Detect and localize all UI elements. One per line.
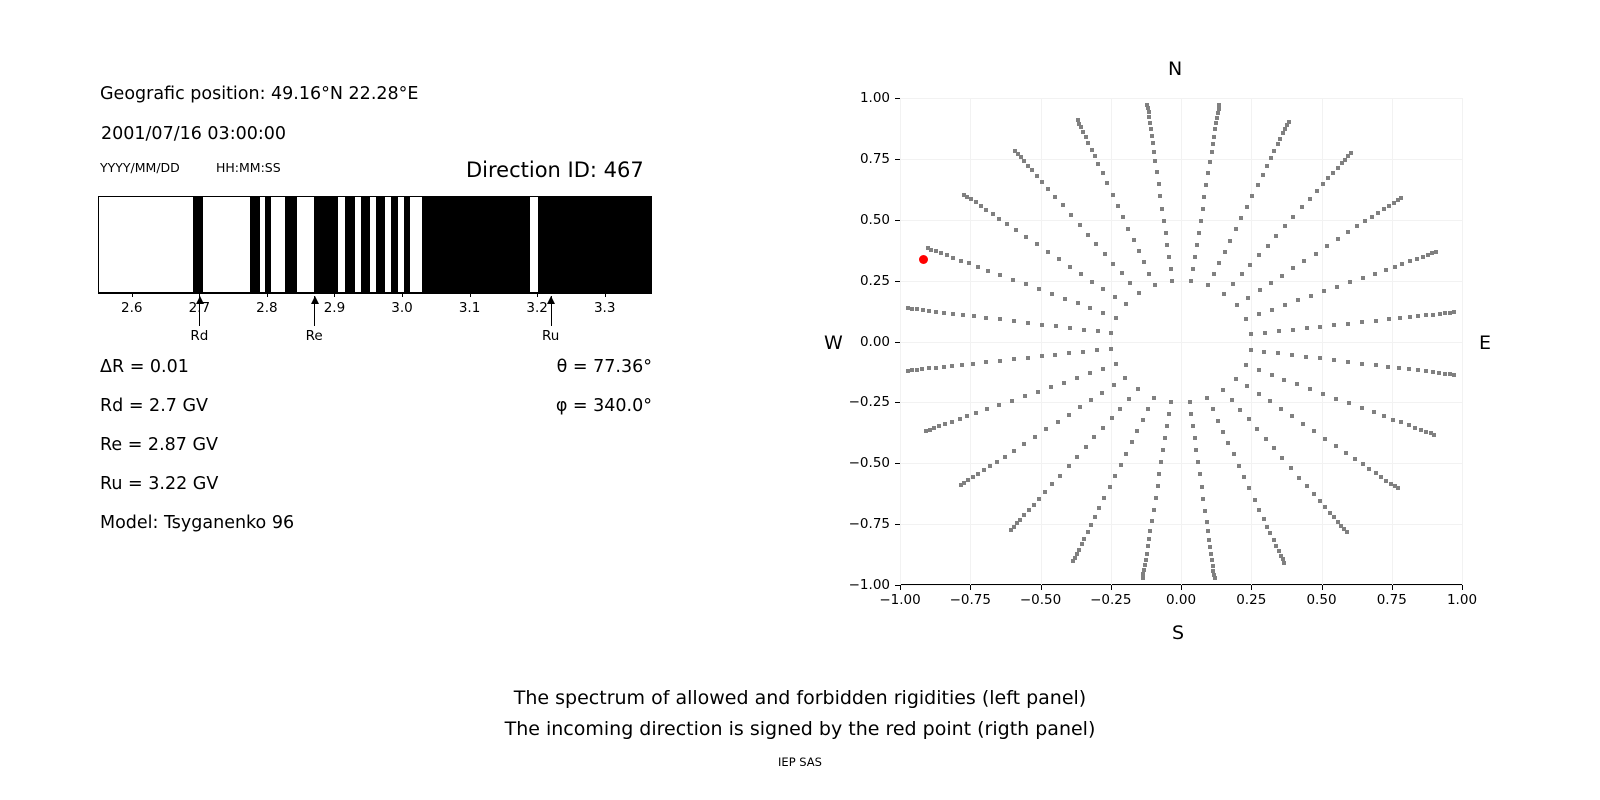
direction-point [1432, 433, 1436, 437]
direction-point [1061, 203, 1065, 207]
direction-point [995, 460, 999, 464]
direction-point [1081, 130, 1085, 134]
direction-point [1301, 422, 1305, 426]
direction-point [1304, 355, 1308, 359]
direction-id-text: Direction ID: 467 [466, 158, 644, 182]
direction-point [1399, 196, 1403, 200]
forbidden-band [376, 196, 385, 293]
direction-point [1257, 508, 1261, 512]
direction-point [1334, 397, 1338, 401]
direction-point [1272, 149, 1276, 153]
direction-point [1226, 441, 1230, 445]
rigidity-tick [132, 293, 133, 297]
direction-point [1281, 131, 1285, 135]
direction-point [1268, 531, 1272, 535]
direction-point [1150, 519, 1154, 523]
direction-point [1397, 366, 1401, 370]
x-tick [1462, 585, 1463, 590]
direction-point [1419, 428, 1423, 432]
direction-point [1205, 396, 1209, 400]
direction-point [1244, 363, 1248, 367]
direction-point [1318, 499, 1322, 503]
direction-point [1408, 315, 1412, 319]
direction-point [1277, 549, 1281, 553]
direction-point [1157, 182, 1161, 186]
param-theta: θ = 77.36° [460, 357, 652, 377]
direction-point [1086, 141, 1090, 145]
direction-point [1346, 230, 1350, 234]
param-delta-r: ΔR = 0.01 [100, 357, 189, 377]
direction-point [1137, 249, 1141, 253]
direction-point [1305, 326, 1309, 330]
direction-point [976, 265, 980, 269]
direction-point [1153, 283, 1157, 287]
direction-point [950, 364, 954, 368]
x-tick [1181, 585, 1182, 590]
direction-point [1189, 279, 1193, 283]
direction-point [1118, 407, 1122, 411]
direction-point [1033, 435, 1037, 439]
direction-point [1022, 513, 1026, 517]
direction-point [1067, 464, 1071, 468]
direction-point [1094, 242, 1098, 246]
direction-point [1009, 528, 1013, 532]
direction-point [1318, 356, 1322, 360]
direction-point [1374, 471, 1378, 475]
direction-point [1096, 329, 1100, 333]
direction-point [1151, 141, 1155, 145]
direction-point [1355, 224, 1359, 228]
direction-point [1374, 363, 1378, 367]
x-tick [1392, 585, 1393, 590]
direction-point [1223, 250, 1227, 254]
direction-point [1363, 219, 1367, 223]
direction-point [1207, 538, 1211, 542]
direction-point [1012, 319, 1016, 323]
direction-point [1332, 358, 1336, 362]
gridline-horizontal [900, 402, 1462, 403]
direction-point [1124, 452, 1128, 456]
direction-point [1067, 351, 1071, 355]
direction-point [1424, 313, 1428, 317]
direction-point [1263, 331, 1267, 335]
direction-point [1109, 331, 1113, 335]
direction-point [1213, 127, 1217, 131]
direction-point [1344, 451, 1348, 455]
rigidity-axis-line [98, 293, 652, 294]
direction-point [937, 424, 941, 428]
rigidity-tick [402, 293, 403, 297]
direction-point [934, 366, 938, 370]
direction-point [1244, 317, 1248, 321]
y-tick-label: −1.00 [834, 577, 890, 593]
direction-point [1346, 322, 1350, 326]
gridline-vertical [1462, 98, 1463, 585]
direction-point [1095, 348, 1099, 352]
direction-point [1189, 412, 1193, 416]
direction-point [1076, 301, 1080, 305]
direction-point [1309, 294, 1313, 298]
direction-point [1003, 455, 1007, 459]
marker-arrow-re [314, 296, 315, 326]
direction-point [1287, 120, 1291, 124]
direction-point [976, 472, 980, 476]
direction-point [1291, 328, 1295, 332]
direction-point [971, 475, 975, 479]
direction-point [1093, 154, 1097, 158]
gridline-horizontal [900, 281, 1462, 282]
direction-point [1116, 204, 1120, 208]
y-tick [895, 463, 900, 464]
direction-point [1205, 520, 1209, 524]
direction-point [1282, 378, 1286, 382]
direction-point [1325, 244, 1329, 248]
direction-point [1075, 376, 1079, 380]
direction-point [1208, 160, 1212, 164]
direction-point [1272, 538, 1276, 542]
direction-point [1387, 204, 1391, 208]
direction-point [1265, 164, 1269, 168]
direction-point [997, 217, 1001, 221]
direction-point [915, 368, 919, 372]
direction-point [1249, 348, 1253, 352]
direction-point [1242, 475, 1246, 479]
forbidden-band [345, 196, 355, 293]
direction-point [1296, 298, 1300, 302]
direction-point [1188, 400, 1192, 404]
direction-point [1088, 371, 1092, 375]
direction-point [1270, 373, 1274, 377]
gridline-horizontal [900, 220, 1462, 221]
direction-point [1237, 464, 1241, 468]
direction-point [1165, 424, 1169, 428]
direction-point [1169, 400, 1173, 404]
direction-point [1113, 295, 1117, 299]
param-rd: Rd = 2.7 GV [100, 396, 208, 416]
rigidity-tick-label: 2.6 [121, 300, 142, 316]
forbidden-band [265, 196, 271, 293]
direction-point [1111, 193, 1115, 197]
direction-point [1130, 440, 1134, 444]
direction-point [1305, 484, 1309, 488]
direction-point [1211, 142, 1215, 146]
direction-point [1257, 253, 1261, 257]
direction-point [1302, 259, 1306, 263]
direction-point [1030, 168, 1034, 172]
direction-point [1128, 281, 1132, 285]
direction-point [920, 367, 924, 371]
forbidden-band [404, 196, 410, 293]
direction-point [1265, 525, 1269, 529]
y-tick-label: −0.75 [834, 516, 890, 532]
direction-point [1290, 353, 1294, 357]
direction-point [951, 312, 955, 316]
direction-point [1137, 291, 1141, 295]
forbidden-band [422, 196, 530, 293]
direction-point [984, 208, 988, 212]
direction-point [984, 360, 988, 364]
direction-point [1054, 324, 1058, 328]
direction-map-panel: −1.00−0.75−0.50−0.250.000.250.500.751.00… [900, 98, 1462, 585]
direction-point [1010, 399, 1014, 403]
gridline-horizontal [900, 342, 1462, 343]
direction-point [1437, 371, 1441, 375]
direction-point [1040, 180, 1044, 184]
x-tick-label: 0.75 [1377, 592, 1407, 608]
direction-point [1193, 255, 1197, 259]
direction-point [915, 307, 919, 311]
geographic-position-text: Geografic position: 49.16°N 22.28°E [100, 84, 418, 104]
direction-point [1361, 462, 1365, 466]
direction-point [1269, 281, 1273, 285]
x-tick-label: 0.25 [1236, 592, 1266, 608]
direction-point [1426, 253, 1430, 257]
direction-point [1032, 503, 1036, 507]
direction-point [1384, 479, 1388, 483]
direction-point [1141, 418, 1145, 422]
direction-point [1276, 351, 1280, 355]
footer-attribution: IEP SAS [0, 755, 1600, 769]
direction-point [1082, 328, 1086, 332]
direction-point [1077, 548, 1081, 552]
direction-point [960, 363, 964, 367]
direction-point [1161, 448, 1165, 452]
gridline-horizontal [900, 524, 1462, 525]
direction-point [1217, 261, 1221, 265]
y-tick [895, 402, 900, 403]
direction-point [1156, 484, 1160, 488]
direction-point [1111, 262, 1115, 266]
direction-point [1280, 456, 1284, 460]
y-tick-label: −0.50 [834, 455, 890, 471]
rigidity-tick-label: 2.8 [256, 300, 277, 316]
direction-point [1321, 392, 1325, 396]
direction-point [1349, 151, 1353, 155]
direction-point [1376, 211, 1380, 215]
direction-point [1037, 497, 1041, 501]
direction-point [1152, 150, 1156, 154]
direction-point [1222, 292, 1226, 296]
direction-point [1191, 267, 1195, 271]
direction-point [1398, 316, 1402, 320]
x-tick [1251, 585, 1252, 590]
direction-point [1230, 398, 1234, 402]
direction-point [1370, 215, 1374, 219]
direction-point [1336, 166, 1340, 170]
time-format-hint: HH:MM:SS [216, 160, 281, 175]
direction-point [1248, 263, 1252, 267]
direction-point [1239, 216, 1243, 220]
direction-point [1078, 405, 1082, 409]
direction-point [943, 422, 947, 426]
marker-arrow-ru [551, 296, 552, 326]
rigidity-band-bar [98, 196, 652, 293]
gridline-horizontal [900, 463, 1462, 464]
direction-point [1336, 237, 1340, 241]
direction-point [1147, 272, 1151, 276]
direction-point [1247, 486, 1251, 490]
direction-point [1408, 259, 1412, 263]
direction-point [1078, 223, 1082, 227]
direction-point [1005, 222, 1009, 226]
direction-point [1035, 174, 1039, 178]
direction-point [1046, 187, 1050, 191]
direction-point [1262, 517, 1266, 521]
direction-point [1297, 476, 1301, 480]
forbidden-band [314, 196, 338, 293]
direction-point [1262, 350, 1266, 354]
direction-point [1112, 383, 1116, 387]
direction-point [1123, 376, 1127, 380]
direction-point [1101, 171, 1105, 175]
direction-point [1068, 326, 1072, 330]
forbidden-band [285, 196, 297, 293]
direction-point [997, 403, 1001, 407]
direction-point [1387, 317, 1391, 321]
direction-point [1114, 362, 1118, 366]
direction-point [1452, 373, 1456, 377]
direction-point [1200, 485, 1204, 489]
direction-point [1360, 320, 1364, 324]
gridline-horizontal [900, 159, 1462, 160]
direction-point [1080, 542, 1084, 546]
direction-point [1146, 407, 1150, 411]
direction-point [958, 417, 962, 421]
x-tick-label: 0.00 [1166, 592, 1196, 608]
direction-point [1109, 347, 1113, 351]
direction-point [1050, 292, 1054, 296]
direction-point [998, 359, 1002, 363]
direction-point [1257, 368, 1261, 372]
direction-point [1198, 472, 1202, 476]
direction-point [1076, 118, 1080, 122]
direction-point [991, 212, 995, 216]
date-format-hint: YYYY/MM/DD [100, 160, 180, 175]
direction-point [1132, 238, 1136, 242]
x-tick [1041, 585, 1042, 590]
direction-point [1067, 413, 1071, 417]
direction-point [1149, 127, 1153, 131]
param-re: Re = 2.87 GV [100, 435, 218, 455]
y-tick-label: 0.25 [834, 273, 890, 289]
x-tick [1111, 585, 1112, 590]
direction-point [1022, 159, 1026, 163]
direction-point [998, 273, 1002, 277]
direction-point [1127, 397, 1131, 401]
direction-point [1274, 234, 1278, 238]
forbidden-band [391, 196, 398, 293]
direction-point [1163, 436, 1167, 440]
x-tick-label: −1.00 [879, 592, 920, 608]
direction-point [1335, 285, 1339, 289]
direction-point [984, 316, 988, 320]
direction-point [1211, 564, 1215, 568]
direction-point [1147, 537, 1151, 541]
direction-point [1148, 529, 1152, 533]
param-phi: φ = 340.0° [460, 396, 652, 416]
direction-point [1079, 272, 1083, 276]
direction-point [1086, 530, 1090, 534]
direction-point [1101, 367, 1105, 371]
direction-point [1026, 164, 1030, 168]
direction-point [1373, 272, 1377, 276]
direction-point [1092, 435, 1096, 439]
direction-point [1012, 449, 1016, 453]
direction-point [1157, 472, 1161, 476]
direction-point [951, 256, 955, 260]
rigidity-tick-label: 3.0 [391, 300, 412, 316]
direction-point [910, 368, 914, 372]
param-model: Model: Tsyganenko 96 [100, 513, 294, 533]
direction-point [1199, 219, 1203, 223]
direction-point [1014, 228, 1018, 232]
direction-point [1026, 321, 1030, 325]
direction-point [1326, 176, 1330, 180]
direction-point [1215, 116, 1219, 120]
direction-point [1119, 463, 1123, 467]
figure-canvas: Geografic position: 49.16°N 22.28°E 2001… [0, 0, 1600, 800]
direction-point [1101, 311, 1105, 315]
direction-point [1246, 296, 1250, 300]
direction-point [1283, 127, 1287, 131]
direction-point [1102, 496, 1106, 500]
direction-point [1331, 171, 1335, 175]
direction-point [1026, 356, 1030, 360]
direction-point [1193, 436, 1197, 440]
direction-point [1231, 282, 1235, 286]
direction-point [1023, 394, 1027, 398]
datetime-text: 2001/07/16 03:00:00 [101, 124, 286, 144]
direction-point [1424, 369, 1428, 373]
direction-point [1050, 482, 1054, 486]
direction-point [959, 483, 963, 487]
direction-point [1291, 215, 1295, 219]
direction-point [921, 308, 925, 312]
direction-point [974, 411, 978, 415]
x-tick [1322, 585, 1323, 590]
direction-point [1217, 103, 1221, 107]
direction-point [1261, 173, 1265, 177]
direction-point [1142, 260, 1146, 264]
direction-point [982, 468, 986, 472]
direction-point [1113, 474, 1117, 478]
direction-point [1221, 430, 1225, 434]
direction-point [1300, 205, 1304, 209]
rigidity-spectrum-panel: Geografic position: 49.16°N 22.28°E 2001… [0, 0, 760, 620]
direction-point [1210, 558, 1214, 562]
direction-point [1024, 282, 1028, 286]
direction-point [1170, 279, 1174, 283]
direction-point [1105, 181, 1109, 185]
direction-point [1379, 475, 1383, 479]
y-tick [895, 159, 900, 160]
direction-point [1421, 255, 1425, 259]
direction-point [1400, 262, 1404, 266]
caption-line-2: The incoming direction is signed by the … [0, 718, 1600, 740]
direction-point [1277, 329, 1281, 333]
direction-point [1431, 370, 1435, 374]
direction-point [1211, 407, 1215, 411]
direction-point [1049, 385, 1053, 389]
direction-point [1204, 183, 1208, 187]
direction-point [1024, 235, 1028, 239]
direction-point [1249, 332, 1253, 336]
direction-point [969, 197, 973, 201]
direction-point [1169, 267, 1173, 271]
direction-point [1272, 446, 1276, 450]
direction-point [1126, 227, 1130, 231]
direction-point [1196, 460, 1200, 464]
